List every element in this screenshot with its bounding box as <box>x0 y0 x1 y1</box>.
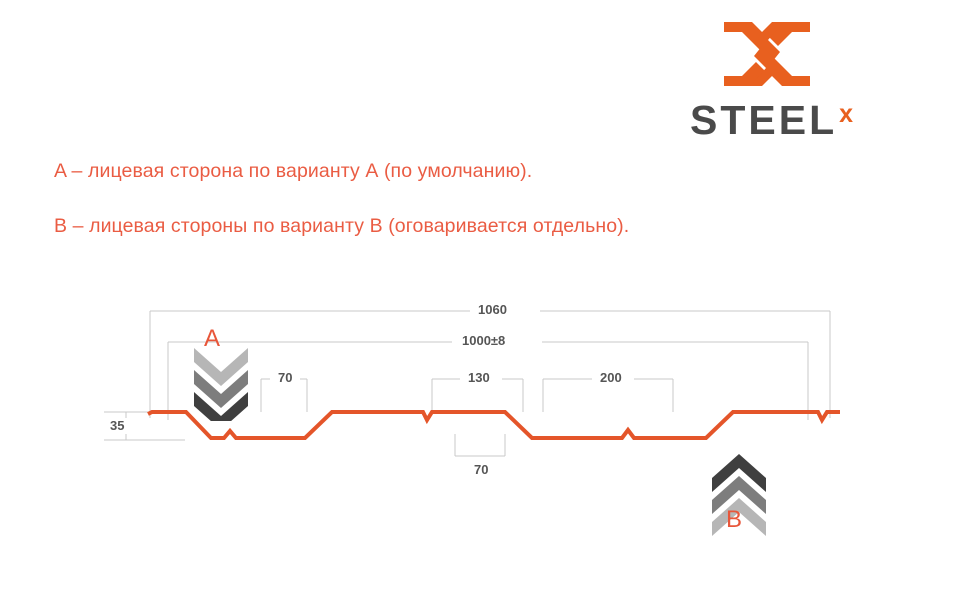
dimension-label-overall-width: 1060 <box>472 302 513 317</box>
profile-technical-drawing <box>0 0 970 597</box>
dimension-label-valley-width: 70 <box>468 462 494 477</box>
dimension-label-effective-width: 1000±8 <box>456 333 511 348</box>
dimension-label-pitch: 200 <box>594 370 628 385</box>
dimension-label-rib-top-width: 70 <box>272 370 298 385</box>
dimension-label-height: 35 <box>104 418 130 433</box>
face-marker-b-label: B <box>726 506 742 534</box>
dimension-label-flat-width: 130 <box>462 370 496 385</box>
face-marker-a-label: A <box>204 325 220 353</box>
face-marker-a-chevrons-icon <box>190 326 252 421</box>
